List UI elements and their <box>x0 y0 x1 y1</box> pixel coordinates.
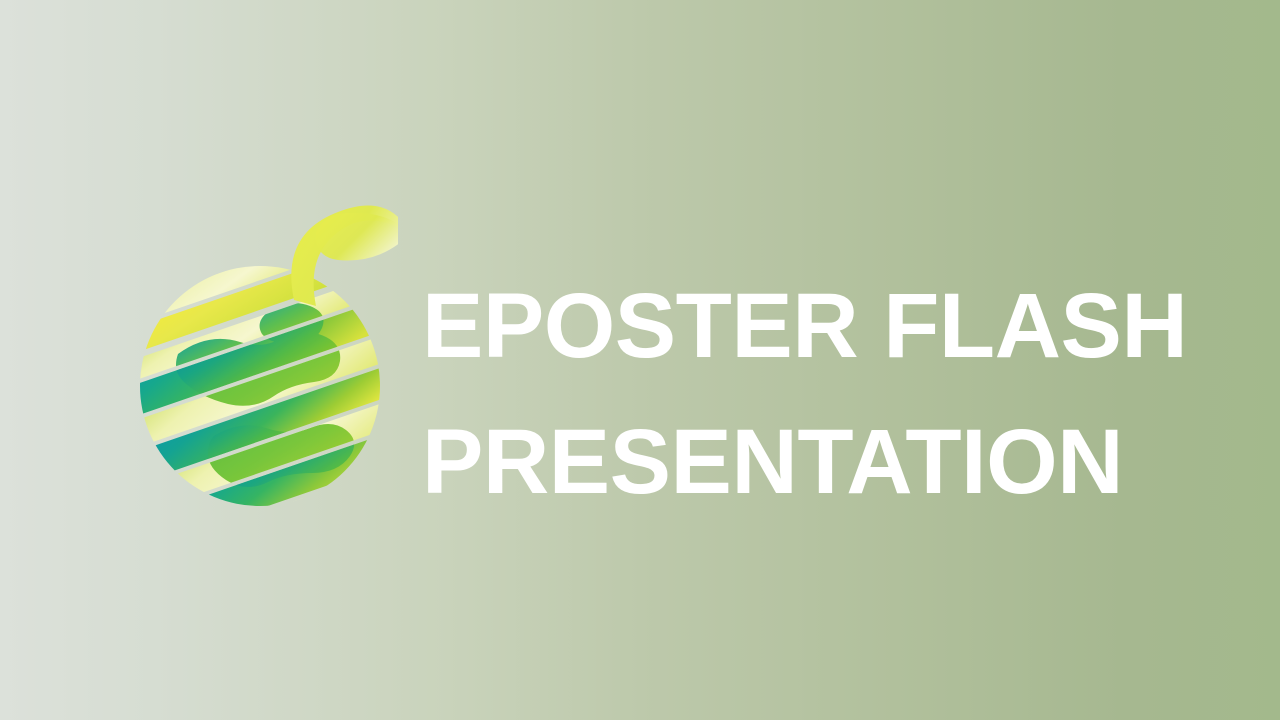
title-line-2: PRESENTATION <box>422 394 1222 530</box>
title-line-1: EPOSTER FLASH <box>422 258 1222 394</box>
page-title: EPOSTER FLASH PRESENTATION <box>422 258 1222 530</box>
striped-globe-logo <box>118 204 398 512</box>
title-slide: EPOSTER FLASH PRESENTATION <box>0 0 1280 720</box>
leaf-flourish <box>291 206 398 306</box>
